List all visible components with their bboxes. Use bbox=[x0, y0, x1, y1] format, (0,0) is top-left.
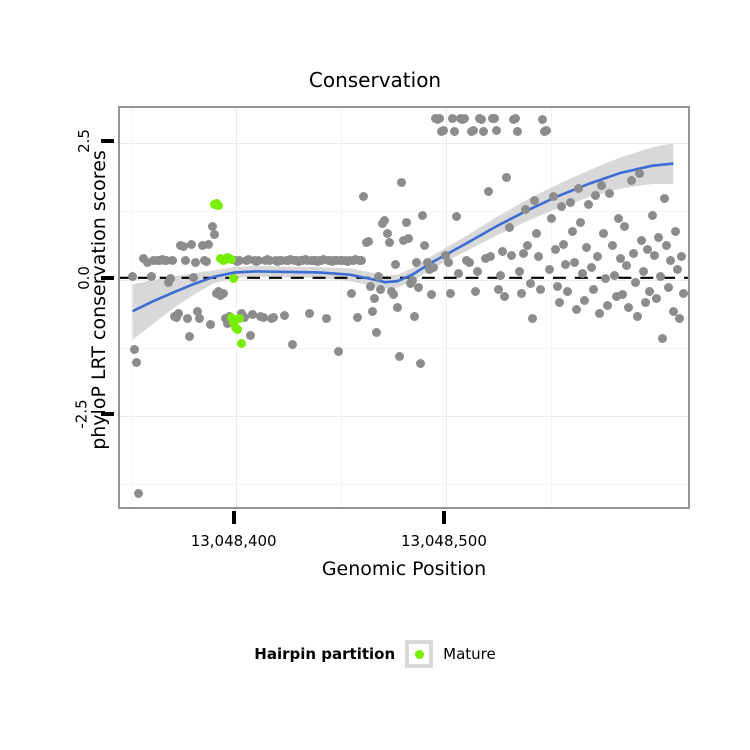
data-point bbox=[591, 191, 600, 200]
data-point bbox=[498, 247, 507, 256]
plot-panel bbox=[118, 106, 690, 509]
data-point bbox=[559, 240, 568, 249]
data-point bbox=[587, 263, 596, 272]
data-point bbox=[412, 258, 421, 267]
data-point bbox=[593, 252, 602, 261]
data-point bbox=[627, 176, 636, 185]
data-point bbox=[181, 256, 190, 265]
data-point bbox=[347, 289, 356, 298]
data-point bbox=[639, 267, 648, 276]
data-point bbox=[528, 314, 537, 323]
data-point bbox=[370, 294, 379, 303]
y-tick bbox=[101, 139, 114, 143]
data-point bbox=[589, 285, 598, 294]
data-point bbox=[599, 229, 608, 238]
data-point bbox=[496, 271, 505, 280]
data-point bbox=[486, 252, 495, 261]
data-point bbox=[364, 237, 373, 246]
data-point bbox=[629, 249, 638, 258]
data-point bbox=[446, 289, 455, 298]
data-point bbox=[513, 127, 522, 136]
data-point bbox=[517, 289, 526, 298]
data-point bbox=[595, 309, 604, 318]
data-point bbox=[673, 265, 682, 274]
data-point bbox=[530, 196, 539, 205]
y-axis-label-wrap: phyloP LRT conservation scores bbox=[38, 0, 66, 620]
data-point bbox=[654, 233, 663, 242]
data-point bbox=[679, 289, 688, 298]
y-tick bbox=[101, 412, 114, 416]
data-point bbox=[507, 251, 516, 260]
data-point bbox=[547, 214, 556, 223]
data-point bbox=[545, 265, 554, 274]
x-tick bbox=[232, 511, 236, 524]
data-point bbox=[429, 263, 438, 272]
data-point bbox=[134, 489, 143, 498]
data-point bbox=[204, 240, 213, 249]
data-point bbox=[187, 240, 196, 249]
data-point bbox=[555, 298, 564, 307]
data-point bbox=[557, 202, 566, 211]
data-point bbox=[572, 305, 581, 314]
y-axis-label: phyloP LRT conservation scores bbox=[88, 50, 110, 550]
data-point bbox=[658, 334, 667, 343]
data-point bbox=[385, 238, 394, 247]
data-point bbox=[490, 114, 499, 123]
data-point bbox=[633, 312, 642, 321]
x-tick-label: 13,048,400 bbox=[174, 532, 294, 550]
data-point bbox=[515, 267, 524, 276]
data-point bbox=[635, 169, 644, 178]
data-point bbox=[219, 289, 228, 298]
data-point bbox=[620, 222, 629, 231]
data-point bbox=[450, 127, 459, 136]
data-point bbox=[652, 294, 661, 303]
chart-figure: Conservation phyloP LRT conservation sco… bbox=[0, 0, 750, 750]
data-point bbox=[631, 278, 640, 287]
data-point bbox=[566, 198, 575, 207]
data-point bbox=[551, 245, 560, 254]
data-point bbox=[637, 236, 646, 245]
data-point bbox=[465, 258, 474, 267]
x-tick bbox=[442, 511, 446, 524]
data-point bbox=[383, 229, 392, 238]
data-point bbox=[648, 211, 657, 220]
data-point bbox=[608, 241, 617, 250]
data-point bbox=[610, 271, 619, 280]
y-tick-label: -2.5 bbox=[0, 405, 96, 423]
data-point bbox=[206, 320, 215, 329]
data-point bbox=[568, 227, 577, 236]
data-point bbox=[473, 267, 482, 276]
data-point bbox=[391, 260, 400, 269]
data-point bbox=[549, 192, 558, 201]
data-point bbox=[305, 309, 314, 318]
legend: Hairpin partition Mature bbox=[0, 640, 750, 668]
data-point bbox=[246, 331, 255, 340]
legend-key-mature[interactable] bbox=[405, 640, 433, 668]
data-point bbox=[280, 311, 289, 320]
data-point bbox=[526, 279, 535, 288]
data-point bbox=[410, 312, 419, 321]
data-point bbox=[532, 229, 541, 238]
y-tick bbox=[101, 276, 114, 280]
data-point bbox=[402, 218, 411, 227]
data-point bbox=[650, 251, 659, 260]
data-point bbox=[444, 258, 453, 267]
data-point bbox=[168, 256, 177, 265]
data-point bbox=[202, 257, 211, 266]
y-tick-label: 2.5 bbox=[0, 132, 96, 150]
data-point bbox=[484, 187, 493, 196]
data-point bbox=[208, 222, 217, 231]
data-point bbox=[322, 314, 331, 323]
legend-title: Hairpin partition bbox=[254, 645, 395, 663]
data-point bbox=[183, 314, 192, 323]
data-point bbox=[576, 218, 585, 227]
data-point bbox=[191, 258, 200, 267]
data-point bbox=[366, 282, 375, 291]
data-point bbox=[166, 274, 175, 283]
legend-dot-icon bbox=[415, 650, 424, 659]
data-point bbox=[427, 290, 436, 299]
data-point bbox=[553, 282, 562, 291]
data-point bbox=[404, 234, 413, 243]
data-point bbox=[671, 227, 680, 236]
data-point bbox=[229, 274, 238, 283]
x-axis-label: Genomic Position bbox=[118, 558, 690, 580]
y-tick-label: 0.0 bbox=[0, 269, 96, 287]
data-point bbox=[435, 114, 444, 123]
data-point bbox=[536, 285, 545, 294]
data-point bbox=[580, 296, 589, 305]
data-point bbox=[578, 269, 587, 278]
chart-title: Conservation bbox=[0, 68, 750, 92]
data-point bbox=[471, 287, 480, 296]
data-point bbox=[227, 255, 236, 264]
legend-label-mature: Mature bbox=[443, 645, 496, 663]
data-point bbox=[130, 345, 139, 354]
data-point bbox=[570, 258, 579, 267]
data-point bbox=[574, 184, 583, 193]
x-tick-label: 13,048,500 bbox=[384, 532, 504, 550]
data-point bbox=[368, 307, 377, 316]
data-point bbox=[454, 269, 463, 278]
data-point bbox=[505, 223, 514, 232]
